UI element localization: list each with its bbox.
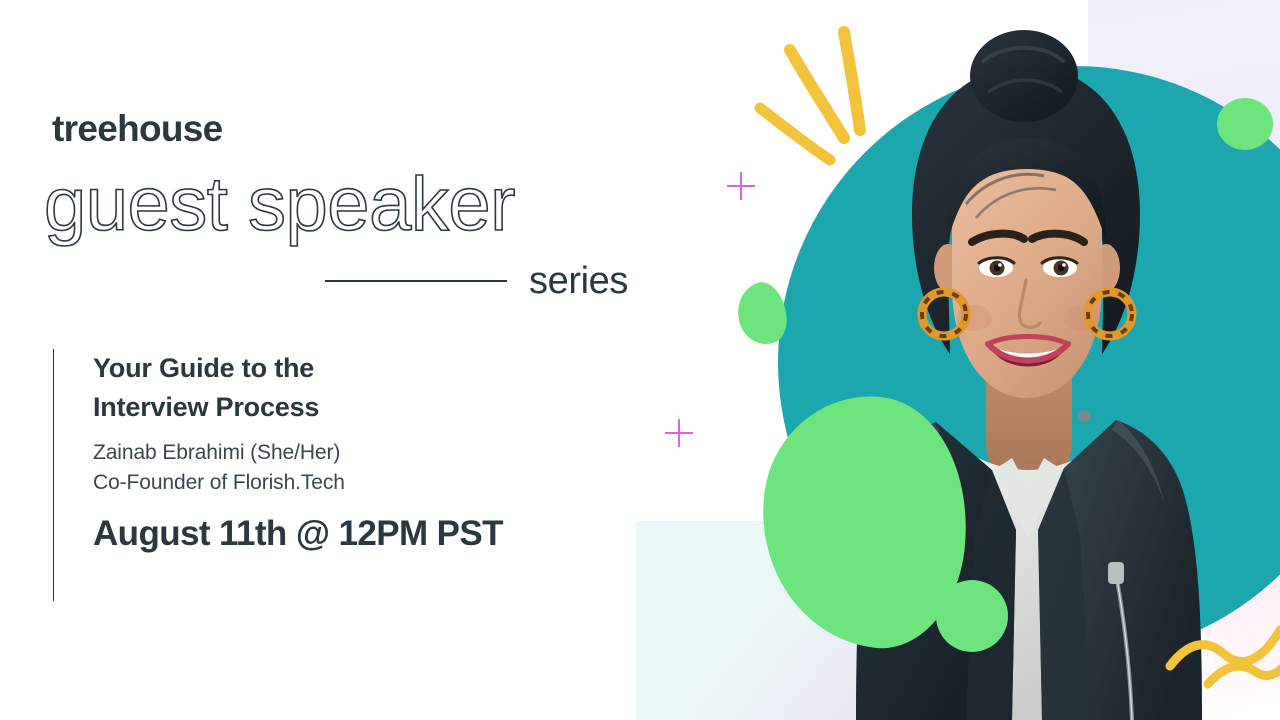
speaker-role: Co-Founder of Florish.Tech: [93, 468, 613, 498]
plus-icon: [727, 172, 755, 200]
brand-wordmark: treehouse: [52, 110, 223, 147]
headline-outline: guest speaker: [44, 162, 515, 247]
text-column: treehouse guest speaker series Your Guid…: [0, 0, 660, 720]
speaker-details: Zainab Ebrahimi (She/Her) Co-Founder of …: [93, 438, 613, 498]
event-info-block: Your Guide to the Interview Process Zain…: [53, 349, 613, 601]
series-row: series: [44, 262, 628, 300]
yellow-sparkle-icon: [744, 30, 894, 200]
talk-title: Your Guide to the Interview Process: [93, 349, 613, 427]
talk-title-line-2: Interview Process: [93, 388, 613, 427]
yellow-squiggle-icon: [1168, 596, 1280, 688]
speaker-name: Zainab Ebrahimi (She/Her): [93, 438, 613, 468]
plus-icon: [665, 419, 693, 447]
talk-title-line-1: Your Guide to the: [93, 349, 613, 388]
series-divider-rule: [325, 280, 507, 282]
slide-canvas: treehouse guest speaker series Your Guid…: [0, 0, 1280, 720]
green-circle-bottom-shape: [936, 580, 1008, 652]
event-datetime: August 11th @ 12PM PST: [93, 515, 613, 554]
series-label: series: [529, 262, 628, 300]
